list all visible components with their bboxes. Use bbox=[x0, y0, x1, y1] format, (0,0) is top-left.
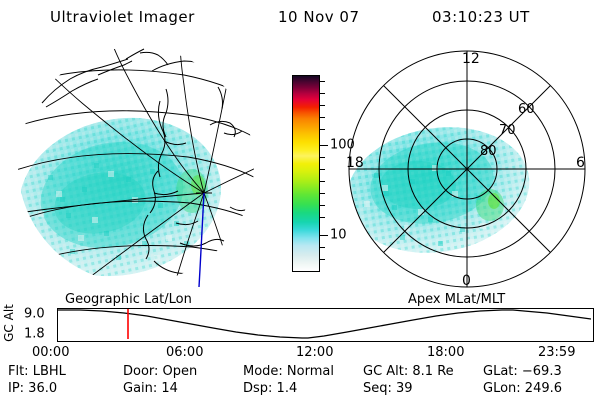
status-gc-alt: GC Alt: 8.1 Re bbox=[363, 364, 454, 379]
apex-polar-svg: 12 6 0 18 60 70 80 bbox=[340, 45, 595, 293]
orbit-altitude-curve bbox=[58, 310, 591, 338]
mlat-label-80: 80 bbox=[480, 144, 497, 159]
status-block: Flt: LBHL IP: 36.0 Door: Open Gain: 14 M… bbox=[0, 364, 600, 400]
time-tick-4: 23:59 bbox=[538, 345, 575, 360]
colorbar-tick bbox=[319, 181, 325, 182]
colorbar-tick bbox=[319, 157, 325, 158]
apex-polar-panel[interactable]: 12 6 0 18 60 70 80 bbox=[340, 45, 595, 293]
mlat-label-60: 60 bbox=[518, 102, 535, 117]
status-filter: Flt: LBHL bbox=[8, 364, 66, 379]
status-gain: Gain: 14 bbox=[123, 381, 178, 396]
colorbar-tick bbox=[319, 169, 325, 170]
colorbar-tick bbox=[319, 93, 325, 94]
orbit-yaxis-label: GC Alt bbox=[2, 300, 16, 346]
orbit-ytick-top: 9.0 bbox=[24, 307, 45, 322]
colorbar-tick bbox=[319, 129, 325, 130]
status-seq: Seq: 39 bbox=[363, 381, 413, 396]
mlat-label-70: 70 bbox=[499, 123, 516, 138]
status-ip: IP: 36.0 bbox=[8, 381, 57, 396]
colorbar-tick bbox=[319, 117, 325, 118]
observation-time: 03:10:23 UT bbox=[432, 8, 530, 26]
header-bar: Ultraviolet Imager 10 Nov 07 03:10:23 UT bbox=[0, 4, 600, 30]
colorbar-tick bbox=[319, 259, 325, 260]
apex-polar-grid bbox=[349, 51, 585, 287]
colorbar-tick bbox=[319, 217, 325, 218]
time-tick-2: 12:00 bbox=[296, 345, 333, 360]
time-tick-0: 00:00 bbox=[32, 345, 69, 360]
orbit-altitude-plot[interactable] bbox=[57, 308, 594, 342]
status-dsp: Dsp: 1.4 bbox=[243, 381, 297, 396]
mlt-label-6: 6 bbox=[576, 155, 585, 171]
mlt-label-0: 0 bbox=[462, 273, 471, 289]
colorbar-tick bbox=[319, 247, 325, 248]
colorbar-tick bbox=[319, 193, 325, 194]
orbit-altitude-strip[interactable]: Geographic Lat/Lon Apex MLat/MLT GC Alt … bbox=[0, 292, 600, 344]
colorbar-tick bbox=[319, 81, 325, 82]
orbit-ytick-bottom: 1.8 bbox=[24, 327, 45, 342]
status-mode: Mode: Normal bbox=[243, 364, 334, 379]
colorbar-tick bbox=[319, 105, 325, 106]
status-door: Door: Open bbox=[123, 364, 197, 379]
mlt-label-12: 12 bbox=[462, 51, 480, 67]
time-tick-1: 06:00 bbox=[166, 345, 203, 360]
colorbar-tick-major-10 bbox=[319, 235, 328, 236]
status-glat: GLat: −69.3 bbox=[483, 364, 562, 379]
observation-date: 10 Nov 07 bbox=[278, 8, 360, 26]
geographic-map-svg bbox=[8, 45, 264, 290]
status-glon: GLon: 249.6 bbox=[483, 381, 562, 396]
apex-panel-title: Apex MLat/MLT bbox=[408, 292, 505, 307]
geographic-map-panel[interactable] bbox=[8, 45, 264, 290]
colorbar-tick bbox=[319, 205, 325, 206]
time-tick-3: 18:00 bbox=[427, 345, 464, 360]
orbit-altitude-svg bbox=[58, 309, 591, 339]
geographic-panel-title: Geographic Lat/Lon bbox=[65, 292, 192, 307]
time-axis: 00:00 06:00 12:00 18:00 23:59 bbox=[0, 345, 600, 361]
instrument-title: Ultraviolet Imager bbox=[50, 8, 195, 26]
colorbar-tick-major-100 bbox=[319, 145, 328, 146]
colorbar-gradient bbox=[292, 75, 320, 272]
mlt-label-18: 18 bbox=[346, 155, 364, 171]
